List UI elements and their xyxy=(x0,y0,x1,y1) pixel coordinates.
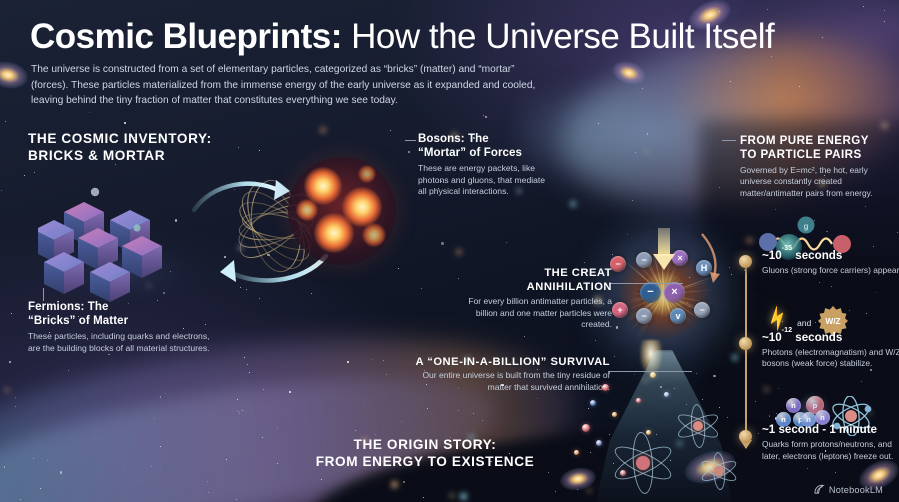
star xyxy=(403,481,405,483)
star xyxy=(767,9,768,10)
star xyxy=(383,360,384,361)
star xyxy=(5,121,6,122)
star xyxy=(386,374,387,375)
star xyxy=(755,401,756,402)
star xyxy=(371,359,372,360)
svg-text:g: g xyxy=(804,222,808,231)
bosons-callout: Bosons: The “Mortar” of Forces These are… xyxy=(418,132,554,198)
star xyxy=(208,492,209,493)
star xyxy=(321,479,322,480)
leader-line-pure-energy xyxy=(722,140,736,141)
star xyxy=(237,399,238,400)
pure-energy-title-line1: FROM PURE ENERGY xyxy=(740,134,888,148)
star xyxy=(262,437,264,439)
star xyxy=(277,427,278,428)
star xyxy=(775,209,776,210)
timeline-description: Quarks form protons/neutrons, and later,… xyxy=(762,439,899,462)
star xyxy=(482,420,483,421)
star xyxy=(815,322,816,323)
star xyxy=(226,459,227,460)
star xyxy=(483,115,484,116)
star xyxy=(731,274,732,275)
star xyxy=(865,206,866,207)
pure-energy-callout: FROM PURE ENERGY TO PARTICLE PAIRS Gover… xyxy=(740,134,888,200)
pure-energy-title-line2: TO PARTICLE PAIRS xyxy=(740,148,888,162)
boson-flare xyxy=(358,165,376,183)
star xyxy=(401,421,402,422)
star xyxy=(263,389,265,391)
star xyxy=(33,458,34,459)
star xyxy=(441,242,443,244)
glow-orb xyxy=(732,354,738,360)
timeline-time-label: ~1 second - 1 minute xyxy=(762,423,899,437)
poster-title: Cosmic Blueprints: How the Universe Buil… xyxy=(30,18,870,56)
star xyxy=(347,361,349,363)
star xyxy=(408,151,410,153)
timeline-item: ~10-12 secondsPhotons (electromagnatism)… xyxy=(762,330,899,370)
footer-brand-label: NotebookLM xyxy=(829,485,883,495)
star xyxy=(758,433,759,434)
star xyxy=(807,468,808,469)
footer-brand: NotebookLM xyxy=(814,484,883,495)
atom-icon xyxy=(700,452,738,490)
star xyxy=(24,175,25,176)
star xyxy=(863,6,864,7)
origin-heading-line2: FROM ENERGY TO EXISTENCE xyxy=(300,454,550,471)
star xyxy=(884,21,885,22)
glow-orb xyxy=(764,387,769,392)
star xyxy=(866,313,867,314)
loose-particle xyxy=(574,450,579,455)
notebooklm-logo-icon xyxy=(814,484,825,495)
infographic-poster: Cosmic Blueprints: How the Universe Buil… xyxy=(0,0,899,502)
timeline-axis xyxy=(745,260,747,448)
star xyxy=(861,381,862,382)
loose-particle xyxy=(582,424,590,432)
star xyxy=(769,416,770,417)
loose-particle xyxy=(612,412,617,417)
star xyxy=(236,499,237,500)
star xyxy=(20,499,21,500)
loose-particle xyxy=(664,392,669,397)
loose-particle xyxy=(596,440,602,446)
atom-icon xyxy=(676,404,720,448)
glow-orb xyxy=(320,127,326,133)
star xyxy=(713,375,715,377)
star xyxy=(244,357,245,358)
star xyxy=(60,471,62,473)
poster-subtitle: The universe is constructed from a set o… xyxy=(31,62,551,109)
atom-nucleus xyxy=(714,466,723,475)
star xyxy=(696,373,698,375)
star xyxy=(427,408,428,409)
star xyxy=(289,391,291,393)
origin-heading-line1: THE ORIGIN STORY: xyxy=(300,437,550,454)
star xyxy=(247,364,248,365)
timeline-node xyxy=(739,430,752,443)
annihilation-title-line2: ANNIHILATION xyxy=(452,280,612,294)
loose-particle xyxy=(620,470,626,476)
atom-icon xyxy=(612,432,674,494)
star xyxy=(238,411,239,412)
leader-line-annihilation xyxy=(609,283,683,284)
star xyxy=(375,434,376,435)
star xyxy=(799,86,800,87)
glow-orb xyxy=(450,493,455,498)
star xyxy=(588,408,589,409)
fermions-callout: Fermions: The “Bricks” of Matter These p… xyxy=(28,300,218,354)
star xyxy=(40,488,41,489)
star xyxy=(165,393,166,394)
leader-line-bosons xyxy=(405,140,416,141)
survival-body: Our entire universe is built from the ti… xyxy=(398,370,610,393)
star xyxy=(160,396,162,398)
survival-callout: A “ONE-IN-A-BILLION” SURVIVAL Our entire… xyxy=(398,356,610,393)
timeline-node xyxy=(739,255,752,268)
star xyxy=(355,430,356,431)
timeline-time-label: ~10-12 seconds xyxy=(762,330,899,345)
annihilation-inflow-arrow xyxy=(598,228,730,360)
star xyxy=(647,133,649,135)
star xyxy=(849,310,850,311)
glow-orb xyxy=(587,489,591,493)
star xyxy=(154,418,155,419)
glow-orb xyxy=(5,388,9,392)
star xyxy=(778,388,779,389)
and-label: and xyxy=(797,318,811,328)
star xyxy=(771,56,772,57)
star xyxy=(819,282,820,283)
timeline-exponent: -35 xyxy=(782,243,792,252)
star xyxy=(9,361,11,363)
star xyxy=(15,406,16,407)
star xyxy=(242,410,243,411)
origin-section-heading: THE ORIGIN STORY: FROM ENERGY TO EXISTEN… xyxy=(300,437,550,470)
star xyxy=(423,497,425,499)
timeline-description: Gluons (strong force carriers) appear. xyxy=(762,265,899,277)
timeline-exponent: -12 xyxy=(782,325,792,334)
timeline-description: Photons (electromagnatism) and W/Z boson… xyxy=(762,347,899,370)
bosons-body: These are energy packets, like photons a… xyxy=(418,163,554,198)
star xyxy=(584,262,585,263)
star xyxy=(831,286,832,287)
star xyxy=(15,397,16,398)
inventory-heading-line2: BRICKS & MORTAR xyxy=(28,148,212,165)
star xyxy=(537,398,538,399)
star xyxy=(555,491,556,492)
loose-particle xyxy=(646,430,651,435)
glow-orb xyxy=(881,122,888,129)
star xyxy=(635,152,636,153)
star xyxy=(598,123,599,124)
star xyxy=(595,340,596,341)
poster-title-light: How the Universe Built Itself xyxy=(342,17,774,56)
star xyxy=(4,466,6,468)
loose-particle xyxy=(650,372,656,378)
star xyxy=(124,122,126,124)
star xyxy=(632,200,633,201)
timeline-item: ~1 second - 1 minuteQuarks form protons/… xyxy=(762,423,899,462)
star xyxy=(259,150,260,151)
annihilation-title-line1: THE CREAT xyxy=(452,266,612,280)
timeline-item: ~10-35 secondsGluons (strong force carri… xyxy=(762,248,899,276)
poster-title-bold: Cosmic Blueprints: xyxy=(30,17,342,56)
star xyxy=(730,81,731,82)
star xyxy=(524,336,525,337)
glow-orb xyxy=(570,201,576,207)
star xyxy=(68,370,69,371)
star xyxy=(390,130,391,131)
glow-orb xyxy=(456,249,462,255)
loose-particle xyxy=(602,384,609,391)
fermions-title-line1: Fermions: The xyxy=(28,300,218,314)
star xyxy=(609,434,610,435)
star xyxy=(249,372,250,373)
star xyxy=(47,460,48,461)
fermions-title-line2: “Bricks” of Matter xyxy=(28,314,218,328)
star xyxy=(151,466,152,467)
star xyxy=(1,190,2,191)
star xyxy=(160,446,161,447)
star xyxy=(89,112,90,113)
star xyxy=(642,88,643,89)
timeline-time-label: ~10-35 seconds xyxy=(762,248,899,263)
glow-orb xyxy=(746,237,753,244)
inventory-section-heading: THE COSMIC INVENTORY: BRICKS & MORTAR xyxy=(28,131,212,164)
star xyxy=(634,374,635,375)
bosons-title-line2: “Mortar” of Forces xyxy=(418,146,554,160)
boson-flare xyxy=(296,199,318,221)
star xyxy=(239,413,240,414)
annihilation-callout: THE CREAT ANNIHILATION For every billion… xyxy=(452,266,612,331)
star xyxy=(458,410,459,411)
survival-title: A “ONE-IN-A-BILLION” SURVIVAL xyxy=(398,356,610,368)
star xyxy=(548,472,549,473)
star xyxy=(506,242,507,243)
star xyxy=(398,268,399,269)
boson-sphere-illustration xyxy=(288,157,396,265)
star xyxy=(875,292,876,293)
glow-orb xyxy=(391,481,399,489)
star xyxy=(719,187,720,188)
star xyxy=(34,172,35,173)
star xyxy=(702,399,703,400)
star xyxy=(207,481,208,482)
star xyxy=(884,10,885,11)
pure-energy-body: Governed by E=mc², the hot, early univer… xyxy=(740,165,888,200)
glow-orb xyxy=(460,493,467,500)
timeline-node xyxy=(739,337,752,350)
star xyxy=(897,232,898,233)
fermions-body: These particles, including quarks and el… xyxy=(28,331,218,355)
loose-particle xyxy=(636,398,641,403)
star xyxy=(835,472,836,473)
bosons-title-line1: Bosons: The xyxy=(418,132,554,146)
star xyxy=(11,313,12,314)
inventory-heading-line1: THE COSMIC INVENTORY: xyxy=(28,131,212,148)
loose-particle xyxy=(590,400,596,406)
boson-flare xyxy=(314,213,354,253)
glow-orb xyxy=(645,150,648,153)
star xyxy=(277,463,278,464)
annihilation-body: For every billion antimatter particles, … xyxy=(452,296,612,331)
annihilation-illustration: −−×H−×+−v− xyxy=(598,228,730,360)
boson-flare xyxy=(362,223,386,247)
star xyxy=(238,147,239,148)
star xyxy=(590,452,591,453)
star xyxy=(473,413,474,414)
star xyxy=(727,417,728,418)
star xyxy=(421,288,422,289)
star xyxy=(485,116,487,118)
